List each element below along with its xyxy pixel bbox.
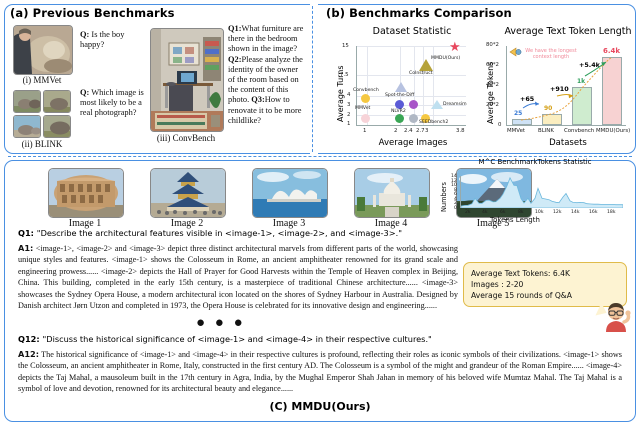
caption-convbench: (iii) ConvBench xyxy=(143,133,229,143)
hist-area-path xyxy=(461,176,623,208)
hist-plot-area xyxy=(460,176,622,208)
blink-cell-4 xyxy=(43,115,71,138)
panel-c-title: (C) MMDU(Ours) xyxy=(0,400,640,413)
panel-b-title: (b) Benchmarks Comparison xyxy=(326,6,512,20)
answer-12: A12: The historical significance of <ima… xyxy=(18,349,622,395)
panel-divider-horizontal xyxy=(8,156,632,157)
scatter-point-mmdu-star: ★ xyxy=(449,42,461,52)
scatter-label-dreamsim: Dreamsim xyxy=(443,102,467,107)
bar-ytick-4: 80*2 xyxy=(486,42,499,48)
scatter-ytick-4: 4 xyxy=(347,92,350,98)
megaphone-icon xyxy=(509,46,522,58)
scatter-xtick-2: 2 xyxy=(394,128,397,134)
caption-mmvet: (i) MMVet xyxy=(5,75,79,85)
bar-annotation-text: We have the longest context length xyxy=(521,48,581,60)
convbench-questions: Q1:What furniture are there in the bedro… xyxy=(228,24,306,126)
scatter-title: Dataset Statistic xyxy=(350,26,474,37)
scatter-ytick-15: 15 xyxy=(342,43,349,49)
bar-xtick-mmvet: MMVet xyxy=(507,128,525,134)
avatar-icon xyxy=(600,300,632,332)
bar-ytick-2: 40*2 xyxy=(486,82,499,88)
convbench-q2-prefix: Q2: xyxy=(228,55,242,64)
question-1: Q1: "Describe the architectural features… xyxy=(18,228,458,238)
convbench-q1-prefix: Q1: xyxy=(228,24,242,33)
scatter-label-seedbench2: SEEDbench2 xyxy=(419,120,448,125)
scatter-xtick-2.4: 2.4 xyxy=(404,128,413,134)
scatter-ytick-1: 1 xyxy=(347,121,350,127)
bar-x-axis-label: Datasets xyxy=(510,138,626,148)
thumbnail-blink-grid xyxy=(13,90,71,138)
bar-y-axis-label: Average Tokens xyxy=(486,62,495,124)
scatter-label-mmvet: MMVet xyxy=(355,106,370,111)
bar-ytick-3: 60*2 xyxy=(486,62,499,68)
image-3 xyxy=(252,168,328,218)
hist-xtick-6k: 6k xyxy=(500,210,506,215)
chart-mmdu-token-statistic: M^C BenchmarkTokens Statistic Numbers 14… xyxy=(430,162,636,220)
bar-ytick-0: 0 xyxy=(498,122,501,128)
callout-line-3: Average 15 rounds of Q&A xyxy=(471,290,619,301)
scatter-label-spot-the-diff: Spot-the-Diff xyxy=(385,93,414,98)
scatter-point-green xyxy=(395,114,404,123)
scatter-point-convbench xyxy=(361,94,370,103)
answer-1-label: A1: xyxy=(18,243,33,253)
caption-blink: (ii) BLINK xyxy=(5,139,79,149)
bar-xtick-mmdu: MMDU(Ours) xyxy=(596,128,630,134)
scatter-point-grey xyxy=(409,114,418,123)
answer-1: A1: <image-1>, <image-2> and <image-3> d… xyxy=(18,243,458,311)
chart-dataset-statistic: Dataset Statistic Average Turns Average … xyxy=(330,24,478,152)
scatter-ytick-7.5: 7.5 xyxy=(340,72,349,78)
hist-y-axis-label: Numbers xyxy=(440,182,448,212)
ellipsis-separator: ● ● ● xyxy=(196,316,246,331)
chart-average-text-token-length: Average Text Token Length Average Tokens… xyxy=(482,24,638,152)
image-1 xyxy=(48,168,124,218)
blink-question: Q: Which image is most likely to be a re… xyxy=(80,88,146,119)
scatter-point-purple xyxy=(409,100,418,109)
thumbnail-mmvet xyxy=(13,25,73,75)
scatter-label-coinstruct: CoInstruct xyxy=(409,71,433,76)
blink-cell-3 xyxy=(13,115,41,138)
hist-xtick-18k: 18k xyxy=(607,210,616,215)
bar-xtick-blink: BLINK xyxy=(538,128,554,134)
panel-divider-vertical xyxy=(312,6,313,152)
scatter-ytick-2: 2 xyxy=(347,112,350,118)
scatter-label-mmdu: MMDU(Ours) xyxy=(431,56,460,61)
hist-xtick-12k: 12k xyxy=(553,210,562,215)
thumbnail-convbench xyxy=(150,28,224,132)
scatter-point-nlvr2 xyxy=(395,100,404,109)
hist-xtick-4k: 4k xyxy=(482,210,488,215)
blink-question-body: Which image is most likely to be a real … xyxy=(80,88,144,117)
question-1-text: "Describe the architectural features vis… xyxy=(37,228,402,238)
callout-line-1: Average Text Tokens: 6.4K xyxy=(471,268,619,279)
blink-cell-2 xyxy=(43,90,71,113)
hist-x-axis-label: Tokens Length xyxy=(490,216,540,224)
scatter-xtick-1: 1 xyxy=(363,128,366,134)
scatter-point-mmvet xyxy=(361,114,370,123)
bar-ytick-1: 20*2 xyxy=(486,102,499,108)
scatter-xtick-3: 3 xyxy=(425,128,428,134)
bar-plot-area: 25 90 1k 6.4k +65 +910 +5.4k We have the… xyxy=(506,46,626,126)
blink-question-prefix: Q: xyxy=(80,88,89,97)
hist-xtick-10k: 10k xyxy=(535,210,544,215)
scatter-x-axis-label: Average Images xyxy=(360,138,466,148)
hist-xtick-14k: 14k xyxy=(571,210,580,215)
scatter-point-dreamsim xyxy=(431,100,443,109)
scatter-label-nlvr2: NLVR2 xyxy=(391,109,406,114)
scatter-xtick-3.8: 3.8 xyxy=(456,128,465,134)
hist-xtick-2k: 2k xyxy=(465,210,471,215)
question-12: Q12: "Discuss the historical significanc… xyxy=(18,334,618,344)
callout-line-2: Images : 2-20 xyxy=(471,279,619,290)
hist-xtick-8k: 8k xyxy=(518,210,524,215)
answer-12-text: The historical significance of <image-1>… xyxy=(18,350,622,393)
image-2 xyxy=(150,168,226,218)
mmvet-question: Q: Is the boy happy? xyxy=(80,30,146,50)
question-1-label: Q1: xyxy=(18,228,34,238)
question-12-label: Q12: xyxy=(18,334,40,344)
scatter-ytick-3: 3 xyxy=(347,102,350,108)
question-12-text: "Discuss the historical significance of … xyxy=(43,334,432,344)
scatter-label-convbench: Convbench xyxy=(353,88,379,93)
hist-title: M^C BenchmarkTokens Statistic xyxy=(470,158,600,167)
image-4 xyxy=(354,168,430,218)
scatter-point-spot-the-diff xyxy=(395,82,407,92)
convbench-q3-prefix: Q3: xyxy=(251,95,265,104)
hist-ytick-0: 0 xyxy=(454,206,457,211)
blink-cell-1 xyxy=(13,90,41,113)
panel-a-title: (a) Previous Benchmarks xyxy=(10,6,175,20)
answer-12-label: A12: xyxy=(18,349,39,359)
bar-title: Average Text Token Length xyxy=(498,26,638,37)
hist-xtick-16k: 16k xyxy=(589,210,598,215)
mmvet-question-prefix: Q: xyxy=(80,30,89,39)
scatter-xtick-2.7: 2.7 xyxy=(416,128,425,134)
answer-1-text: <image-1>, <image-2> and <image-3> depic… xyxy=(18,244,458,310)
figure-root: (a) Previous Benchmarks (i) MMVet xyxy=(0,0,640,426)
bar-xtick-convbench: Convbench xyxy=(564,128,594,134)
gridline-v xyxy=(367,46,368,125)
scatter-plot-area: ★ Convbench MMVet Spot-the-Diff NLVR2 SE… xyxy=(356,46,466,126)
